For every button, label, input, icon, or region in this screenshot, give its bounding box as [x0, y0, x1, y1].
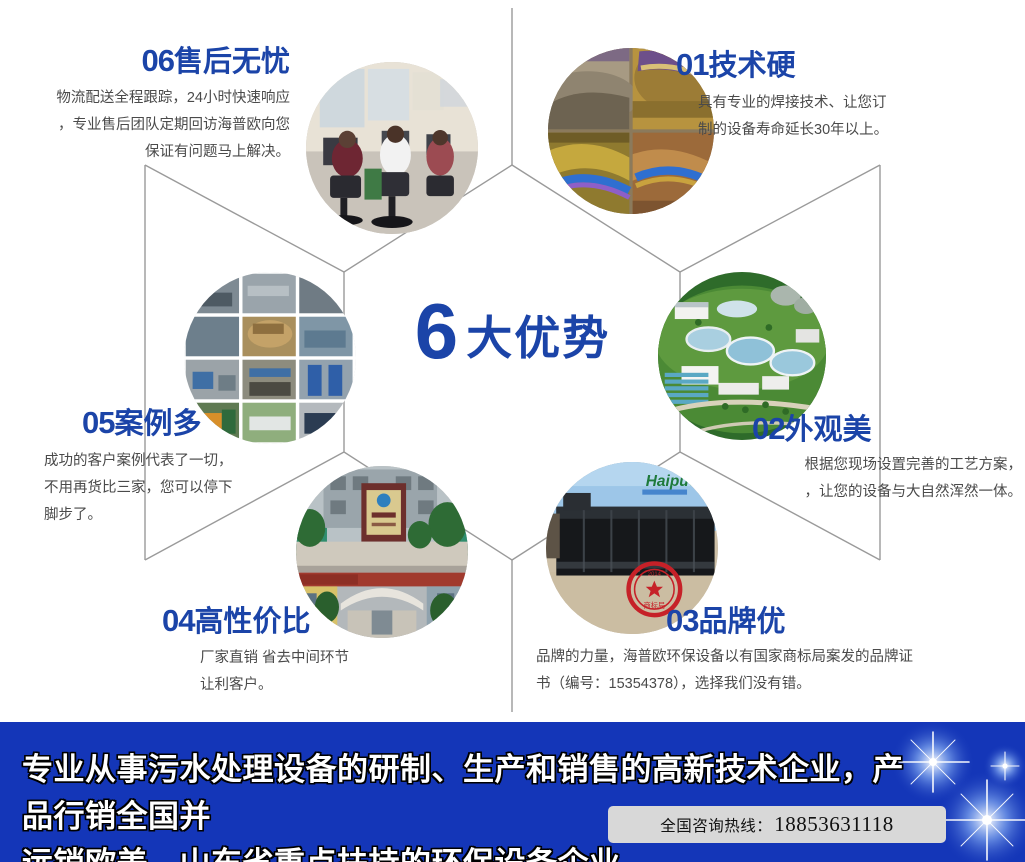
office-staff-photo — [306, 62, 478, 234]
infographic-root: Haipuou 商标局 2014 — [0, 0, 1025, 862]
item-05: 05案例多 成功的客户案例代表了一切， 不用再货比三家，您可以停下 脚步了。 — [44, 406, 374, 528]
item-06-title: 售后无忧 — [174, 46, 290, 78]
item-06-body: 物流配送全程跟踪，24小时快速响应 ，专业售后团队定期回访海普欧向您 保证有问题… — [0, 85, 290, 165]
item-03: 03品牌优 品牌的力量，海普欧环保设备以有国家商标局案发的品牌证 书（编号：15… — [536, 604, 1016, 698]
item-05-headline: 05案例多 — [82, 406, 374, 441]
item-01-title: 技术硬 — [708, 50, 795, 82]
hex-spoke-upper-right — [680, 165, 880, 272]
item-02-body: 根据您现场设置完善的工艺方案， ，让您的设备与大自然浑然一体。 — [700, 452, 1022, 506]
item-06-number: 06 — [142, 43, 174, 78]
item-02: 02外观美 根据您现场设置完善的工艺方案， ，让您的设备与大自然浑然一体。 — [700, 412, 1022, 506]
item-04-title: 高性价比 — [194, 606, 310, 638]
banner-line-2: 远销欧美，山东省重点扶持的环保设备企业。 — [22, 840, 912, 862]
hotline-number: 18853631118 — [774, 812, 893, 837]
item-02-headline: 02外观美 — [752, 412, 1022, 447]
item-01-body: 具有专业的焊接技术、让您订 制的设备寿命延长30年以上。 — [698, 90, 1016, 144]
item-04: 04高性价比 厂家直销 省去中间环节 让利客户。 — [162, 604, 492, 699]
svg-text:2014: 2014 — [648, 572, 662, 578]
center-text: 大优势 — [466, 312, 610, 364]
item-05-title: 案例多 — [114, 408, 201, 440]
item-06-headline: 06售后无忧 — [0, 44, 290, 79]
item-01-headline: 01技术硬 — [676, 48, 1016, 83]
banner-text: 专业从事污水处理设备的研制、生产和销售的高新技术企业，产品行销全国并 远销欧美，… — [22, 746, 912, 862]
center-number: 6 — [415, 287, 458, 375]
item-03-body: 品牌的力量，海普欧环保设备以有国家商标局案发的品牌证 书（编号：15354378… — [536, 644, 1016, 698]
hotline-badge[interactable]: 全国咨询热线：18853631118 — [608, 806, 946, 843]
item-02-title: 外观美 — [784, 414, 871, 446]
item-05-number: 05 — [82, 405, 114, 440]
item-02-number: 02 — [752, 411, 784, 446]
center-label: 6大优势 — [0, 292, 1025, 370]
item-06: 06售后无忧 物流配送全程跟踪，24小时快速响应 ，专业售后团队定期回访海普欧向… — [0, 44, 290, 165]
item-01: 01技术硬 具有专业的焊接技术、让您订 制的设备寿命延长30年以上。 — [676, 48, 1016, 144]
item-03-title: 品牌优 — [698, 606, 785, 638]
item-05-body: 成功的客户案例代表了一切， 不用再货比三家，您可以停下 脚步了。 — [44, 448, 374, 528]
item-04-headline: 04高性价比 — [162, 604, 492, 639]
hotline-label: 全国咨询热线： — [660, 814, 772, 836]
item-03-headline: 03品牌优 — [666, 604, 1016, 639]
item-04-body: 厂家直销 省去中间环节 让利客户。 — [200, 645, 492, 699]
item-04-number: 04 — [162, 603, 194, 638]
item-03-number: 03 — [666, 603, 698, 638]
item-01-number: 01 — [676, 47, 708, 82]
